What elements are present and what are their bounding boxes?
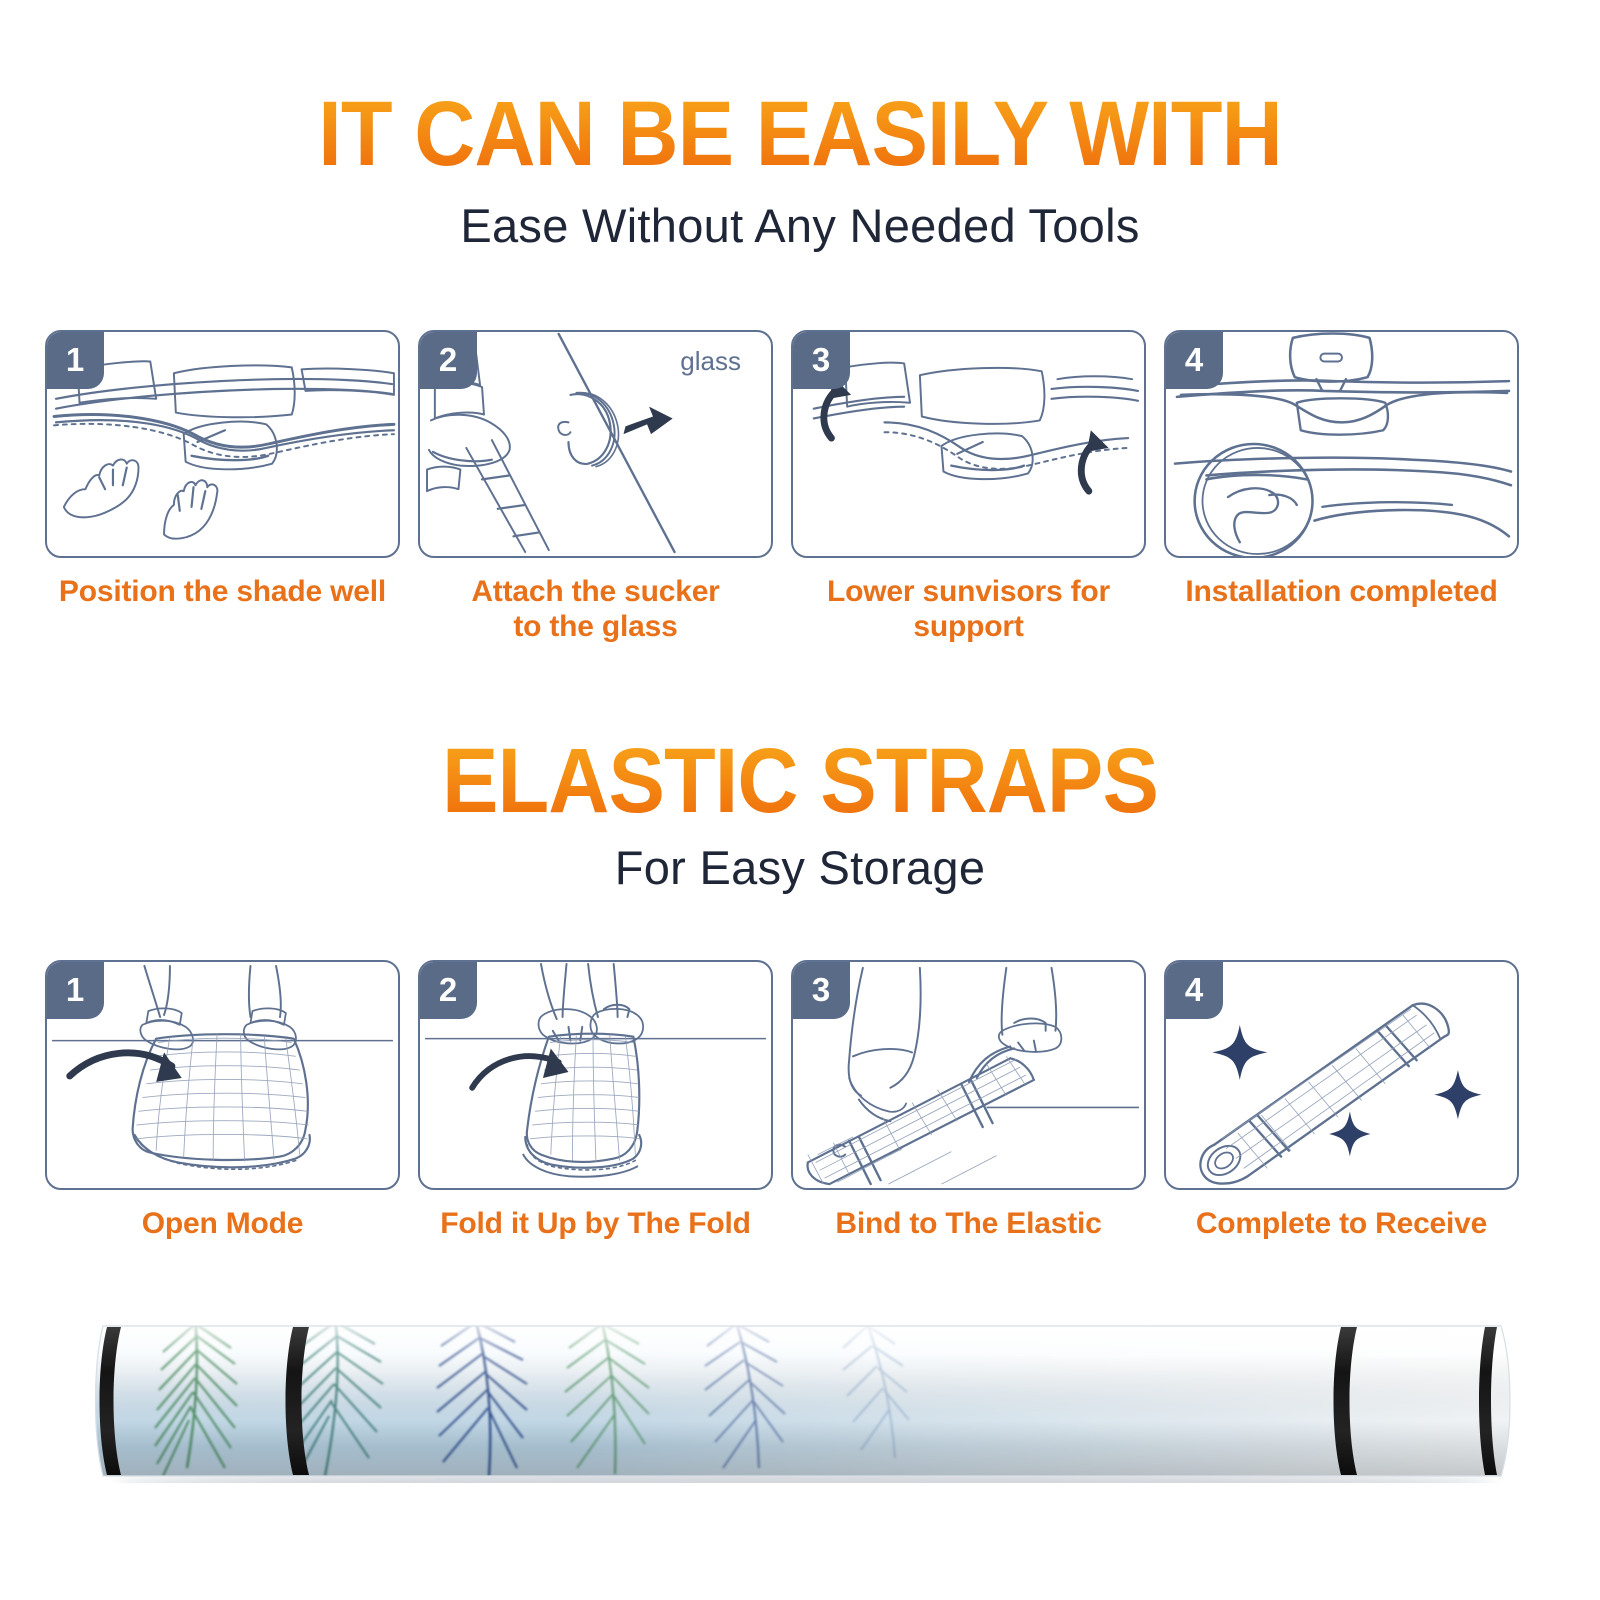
step-install-2: 2 glass [418, 330, 773, 645]
step-storage-3-caption: Bind to The Elastic [835, 1206, 1101, 1241]
step-number-badge: 4 [1165, 961, 1223, 1019]
step-install-4-panel: 4 [1164, 330, 1519, 558]
step-install-1-caption: Position the shade well [59, 574, 386, 609]
step-install-3-panel: 3 [791, 330, 1146, 558]
installation-section-subtitle: Ease Without Any Needed Tools [0, 198, 1600, 253]
sparkle-icon [1212, 1025, 1267, 1080]
step-number-badge: 2 [419, 961, 477, 1019]
sparkle-icon [1329, 1111, 1370, 1156]
step-storage-1-caption: Open Mode [142, 1206, 304, 1241]
installation-title: IT CAN BE EASILY WITH [64, 88, 1536, 180]
direction-arrow-icon [624, 407, 673, 435]
step-install-4-caption: Installation completed [1185, 574, 1497, 609]
step-storage-3-panel: 3 [791, 960, 1146, 1190]
step-storage-4-caption: Complete to Receive [1196, 1206, 1487, 1241]
step-storage-4-panel: 4 [1164, 960, 1519, 1190]
step-number-badge: 1 [46, 331, 104, 389]
step-install-3-caption: Lower sunvisors for support [827, 574, 1110, 645]
storage-title: ELASTIC STRAPS [64, 735, 1536, 827]
sparkle-icon [1434, 1070, 1481, 1119]
storage-section-title: ELASTIC STRAPS [0, 735, 1600, 827]
installation-section-title: IT CAN BE EASILY WITH [0, 88, 1600, 180]
step-install-4: 4 [1164, 330, 1519, 645]
step-storage-1-panel: 1 [45, 960, 400, 1190]
storage-section-subtitle: For Easy Storage [0, 840, 1600, 895]
step-number-badge: 1 [46, 961, 104, 1019]
installation-subtitle: Ease Without Any Needed Tools [0, 198, 1600, 253]
fold-direction-arrow-icon [70, 1052, 182, 1081]
step-install-2-panel: 2 glass [418, 330, 773, 558]
step-storage-2: 2 [418, 960, 773, 1241]
step-number-badge: 4 [1165, 331, 1223, 389]
step-number-badge: 2 [419, 331, 477, 389]
step-number-badge: 3 [792, 331, 850, 389]
step-install-1: 1 [45, 330, 400, 645]
step-install-1-panel: 1 [45, 330, 400, 558]
storage-steps-grid: 1 [45, 960, 1555, 1241]
step-storage-2-caption: Fold it Up by The Fold [440, 1206, 751, 1241]
installation-steps-grid: 1 [45, 330, 1555, 645]
step-install-2-caption: Attach the sucker to the glass [471, 574, 719, 645]
step-storage-4: 4 [1164, 960, 1519, 1241]
step-storage-1: 1 [45, 960, 400, 1241]
step-storage-2-panel: 2 [418, 960, 773, 1190]
storage-subtitle: For Easy Storage [0, 840, 1600, 895]
fold-direction-arrow-icon [472, 1048, 568, 1087]
product-rolled-sunshade-photo [45, 1318, 1557, 1483]
step-storage-3: 3 [791, 960, 1146, 1241]
step-number-badge: 3 [792, 961, 850, 1019]
step-install-3: 3 [791, 330, 1146, 645]
glass-annotation-label: glass [680, 346, 741, 377]
